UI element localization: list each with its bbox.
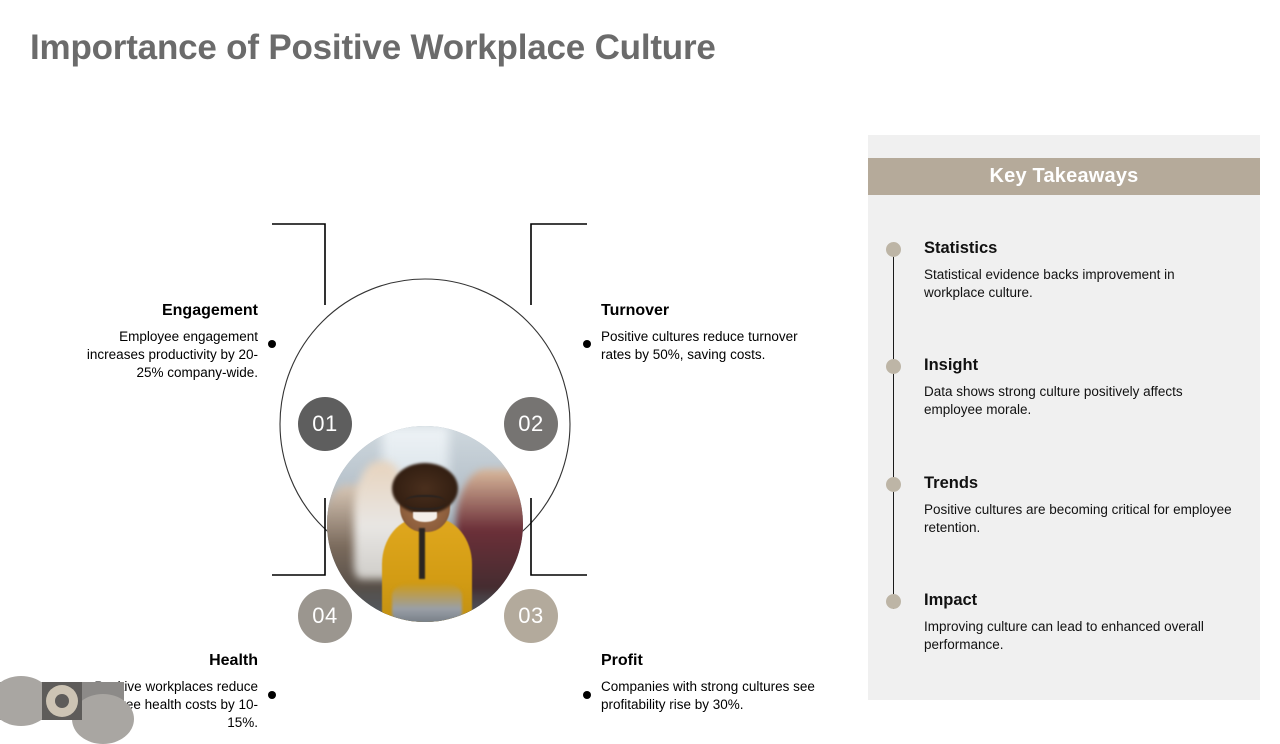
callout-turnover-title: Turnover [601,302,831,320]
callout-profit-body: Companies with strong cultures see profi… [601,678,831,714]
node-bubble-02[interactable]: 02 [504,397,558,451]
connector-line-03 [531,498,587,575]
callout-engagement: Engagement Employee engagement increases… [62,302,258,381]
takeaway-bullet-icon [886,477,901,492]
takeaway-title: Impact [924,591,977,610]
circular-diagram: 01 02 03 04 Engagement Employee engageme… [0,120,868,680]
connector-line-02 [531,224,587,305]
company-logo-icon [0,682,124,720]
callout-engagement-body: Employee engagement increases productivi… [62,328,258,381]
takeaway-bullet-icon [886,242,901,257]
key-takeaways-header: Key Takeaways [868,158,1260,195]
callout-turnover: Turnover Positive cultures reduce turnov… [601,302,831,364]
page-title: Importance of Positive Workplace Culture [30,28,716,68]
node-bubble-03[interactable]: 03 [504,589,558,643]
connector-dot-turnover [583,340,591,348]
key-takeaways-list: Statistics Statistical evidence backs im… [868,195,1260,695]
node-bubble-01[interactable]: 01 [298,397,352,451]
takeaway-title: Trends [924,474,978,493]
node-bubble-04[interactable]: 04 [298,589,352,643]
takeaway-timeline-spine [893,252,894,609]
takeaway-bullet-icon [886,359,901,374]
connector-line-04 [272,498,325,575]
connector-dot-profit [583,691,591,699]
takeaway-title: Insight [924,356,978,375]
takeaway-body: Statistical evidence backs improvement i… [924,266,1234,302]
callout-profit: Profit Companies with strong cultures se… [601,652,831,714]
connector-dot-health [268,691,276,699]
connector-line-01 [272,224,325,305]
connector-dot-engagement [268,340,276,348]
takeaway-title: Statistics [924,239,997,258]
takeaway-body: Improving culture can lead to enhanced o… [924,618,1234,654]
callout-health-title: Health [62,652,258,670]
takeaway-bullet-icon [886,594,901,609]
callout-engagement-title: Engagement [62,302,258,320]
center-photo [327,426,523,622]
callout-turnover-body: Positive cultures reduce turnover rates … [601,328,831,364]
takeaway-body: Data shows strong culture positively aff… [924,383,1234,419]
takeaway-body: Positive cultures are becoming critical … [924,501,1234,537]
callout-profit-title: Profit [601,652,831,670]
